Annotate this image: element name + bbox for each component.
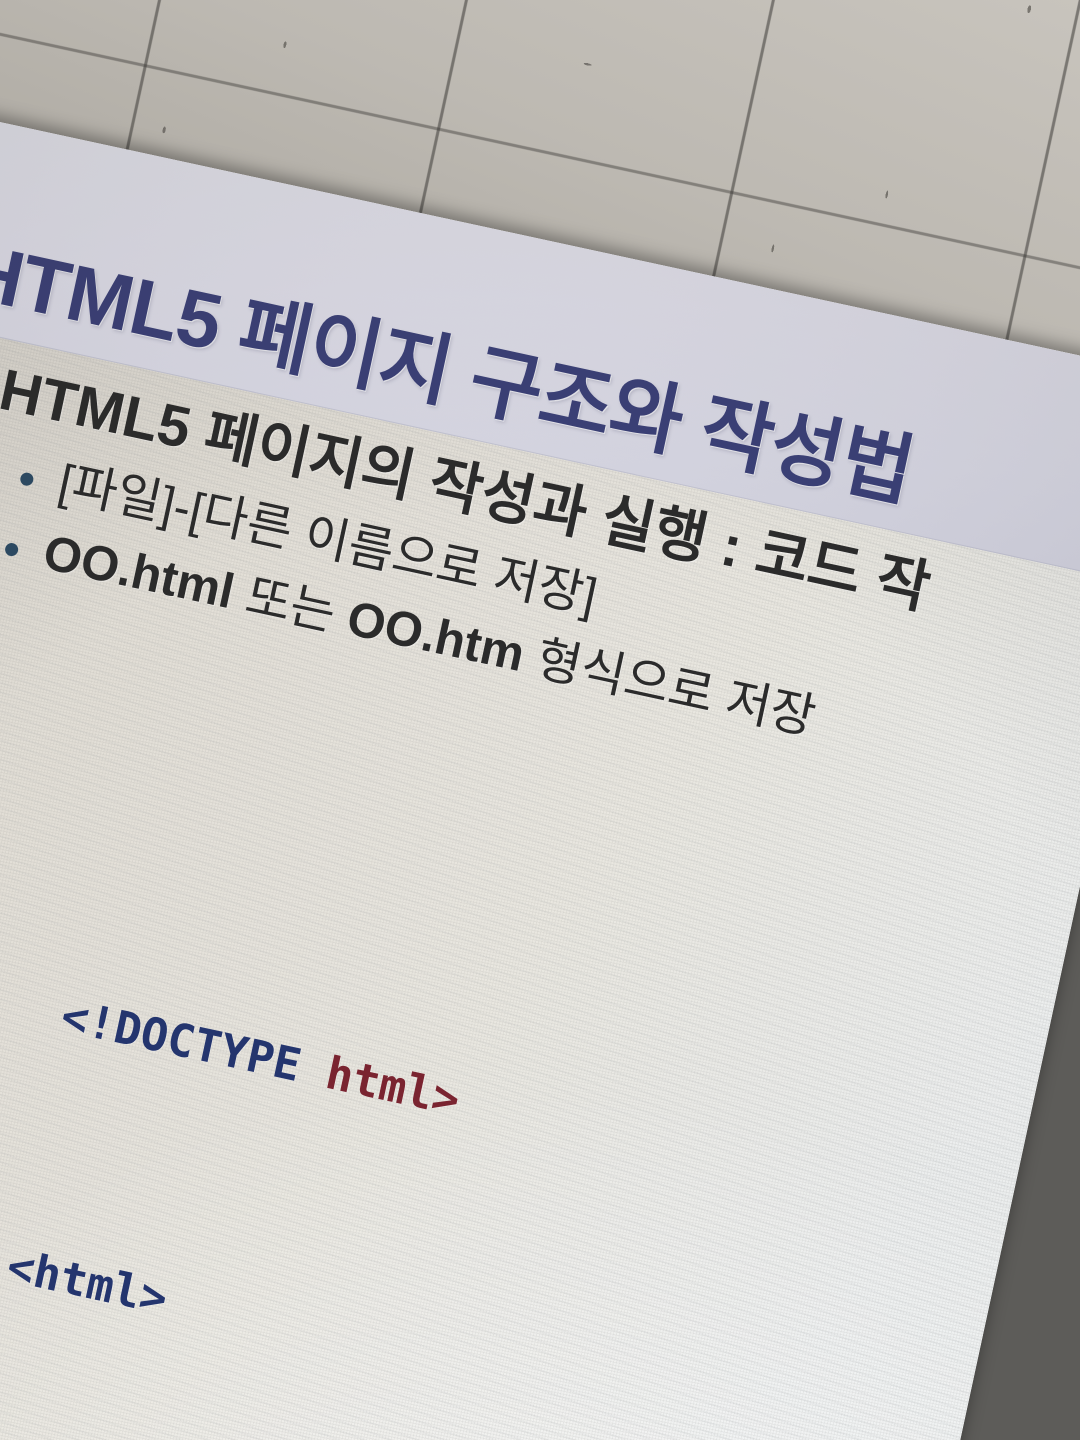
screenshot-stage: HTML5 페이지 구조와 작성법 HTML5 페이지의 작성과 실행 : 코드… xyxy=(0,0,1080,1440)
round-bullet-icon xyxy=(4,541,19,556)
round-bullet-icon xyxy=(19,471,34,486)
code-token-html-open: <html> xyxy=(2,1239,172,1325)
code-line-html-open: <html> xyxy=(1,1234,825,1440)
code-line-doctype: <!DOCTYPE html> xyxy=(55,984,879,1222)
code-token-doctype-value: html> xyxy=(321,1046,465,1126)
code-token-doctype-open: <!DOCTYPE xyxy=(56,989,332,1098)
ext-middle-text: 또는 xyxy=(228,566,354,644)
